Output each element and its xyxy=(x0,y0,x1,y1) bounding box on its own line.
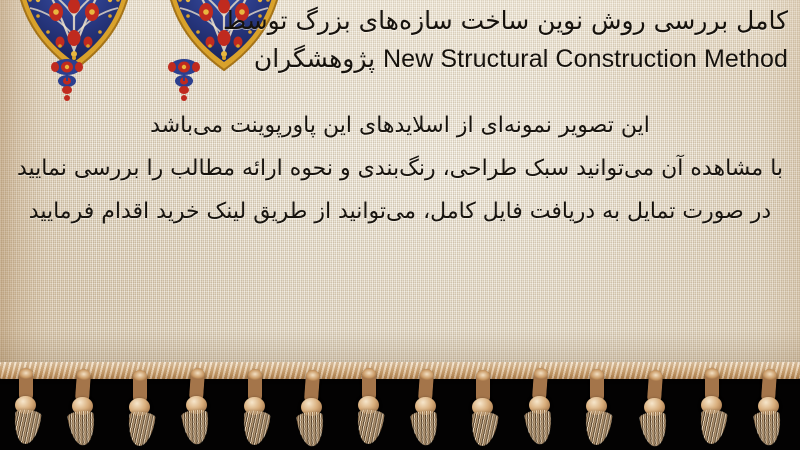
title-latin-subtitle: New Structural Construction Method xyxy=(383,45,788,73)
tassel-skirt xyxy=(126,411,155,448)
tassel xyxy=(753,367,783,445)
tassel xyxy=(181,366,211,444)
tassel xyxy=(239,367,269,445)
tassel-skirt xyxy=(698,409,727,446)
tassel-skirt xyxy=(639,411,669,448)
tassel xyxy=(581,367,611,445)
tassel-skirt xyxy=(296,411,326,448)
tassel xyxy=(67,367,97,445)
slide-title: کامل بررسی روش نوین ساخت سازه‌های بزرگ ت… xyxy=(212,2,788,78)
tassel xyxy=(696,366,726,444)
title-persian-word: پژوهشگران xyxy=(254,44,375,73)
tassel xyxy=(639,368,669,446)
tassel xyxy=(353,366,383,444)
slide-canvas: کامل بررسی روش نوین ساخت سازه‌های بزرگ ت… xyxy=(0,0,800,450)
body-line-3: در صورت تمایل به دریافت فایل کامل، می‌تو… xyxy=(0,190,800,233)
title-line-2: New Structural Construction Method پژوهش… xyxy=(212,40,788,78)
tassel xyxy=(124,368,154,446)
tassel xyxy=(524,366,554,444)
tassel-skirt xyxy=(753,410,783,447)
tassel xyxy=(467,368,497,446)
tassel-skirt xyxy=(583,410,612,447)
tassel-skirt xyxy=(469,411,498,448)
tassel-skirt xyxy=(67,410,97,447)
tassel xyxy=(410,367,440,445)
tassel-skirt xyxy=(410,410,440,447)
text-layer: کامل بررسی روش نوین ساخت سازه‌های بزرگ ت… xyxy=(0,0,800,384)
tassel xyxy=(10,366,40,444)
tassel-skirt xyxy=(241,410,270,447)
tassel-skirt xyxy=(12,409,41,446)
tassel-skirt xyxy=(181,409,211,446)
body-line-2: با مشاهده آن می‌توانید سبک طراحی، رنگ‌بن… xyxy=(0,147,800,190)
tassel-fringe xyxy=(0,358,800,450)
slide-body: این تصویر نمونه‌ای از اسلایدهای این پاور… xyxy=(0,104,800,233)
tassel-skirt xyxy=(524,409,554,446)
tassel-skirt xyxy=(355,409,384,446)
fringe-cord-rail xyxy=(0,362,800,379)
tassel xyxy=(296,368,326,446)
title-line-1: کامل بررسی روش نوین ساخت سازه‌های بزرگ ت… xyxy=(212,2,788,40)
body-line-1: این تصویر نمونه‌ای از اسلایدهای این پاور… xyxy=(0,104,800,147)
